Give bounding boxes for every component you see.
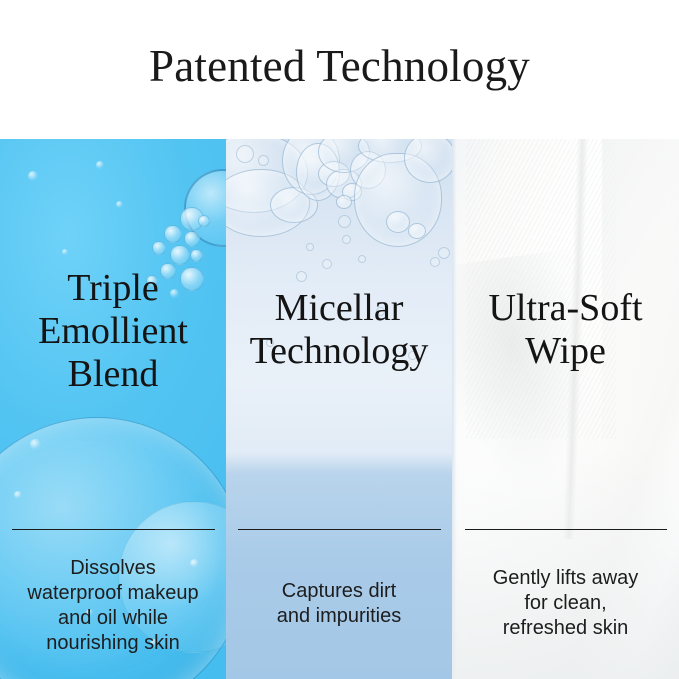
description-line: waterproof makeup <box>27 582 198 604</box>
feature-column-micellar-technology: Micellar Technology Captures dirt and im… <box>226 139 452 679</box>
feature-column-ultra-soft-wipe: Ultra-Soft Wipe Gently lifts away for cl… <box>452 139 679 679</box>
headline-line: Blend <box>68 353 159 395</box>
column-2-headline: Micellar Technology <box>226 287 452 373</box>
description-line: and oil while <box>58 607 168 629</box>
headline-line: Triple <box>67 267 159 309</box>
headline-line: Wipe <box>525 330 606 372</box>
description-line: refreshed skin <box>503 617 629 639</box>
column-3-divider <box>465 529 667 530</box>
column-2-description: Captures dirt and impurities <box>226 579 452 629</box>
description-line: for clean, <box>524 592 606 614</box>
column-1-content: Triple Emollient Blend Dissolves waterpr… <box>0 139 226 679</box>
headline-line: Micellar <box>275 287 404 329</box>
headline-line: Technology <box>250 330 429 372</box>
description-line: Captures dirt <box>282 580 397 602</box>
title-bar: Patented Technology <box>0 0 679 139</box>
column-2-content: Micellar Technology Captures dirt and im… <box>226 139 452 679</box>
description-line: nourishing skin <box>46 632 179 654</box>
description-line: Dissolves <box>70 557 156 579</box>
column-1-divider <box>12 529 215 530</box>
column-3-content: Ultra-Soft Wipe Gently lifts away for cl… <box>452 139 679 679</box>
page-title: Patented Technology <box>149 44 530 95</box>
column-1-description: Dissolves waterproof makeup and oil whil… <box>0 556 226 656</box>
description-line: and impurities <box>277 605 402 627</box>
patented-technology-infographic: Patented Technology <box>0 0 679 679</box>
column-3-description: Gently lifts away for clean, refreshed s… <box>452 566 679 641</box>
feature-panels: Triple Emollient Blend Dissolves waterpr… <box>0 139 679 679</box>
column-2-divider <box>238 529 441 530</box>
column-1-headline: Triple Emollient Blend <box>0 267 226 396</box>
headline-line: Emollient <box>38 310 188 352</box>
column-3-headline: Ultra-Soft Wipe <box>452 287 679 373</box>
headline-line: Ultra-Soft <box>488 287 642 329</box>
feature-column-triple-emollient-blend: Triple Emollient Blend Dissolves waterpr… <box>0 139 226 679</box>
description-line: Gently lifts away <box>493 567 639 589</box>
